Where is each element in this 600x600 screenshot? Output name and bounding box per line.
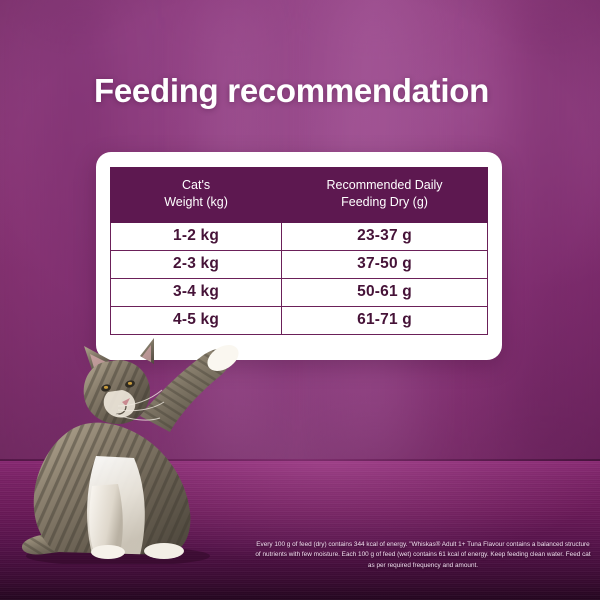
cell-feeding: 50-61 g <box>282 278 488 306</box>
cell-weight: 1-2 kg <box>111 222 282 250</box>
feeding-table-card: Cat's Weight (kg) Recommended Daily Feed… <box>96 152 502 360</box>
cell-feeding: 23-37 g <box>282 222 488 250</box>
column-header-feeding: Recommended Daily Feeding Dry (g) <box>282 168 488 223</box>
page-title: Feeding recommendation <box>94 72 554 110</box>
table-row: 4-5 kg 61-71 g <box>111 306 488 334</box>
cell-weight: 2-3 kg <box>111 250 282 278</box>
cat-rear-paw <box>144 543 184 559</box>
feeding-recommendation-banner: Feeding recommendation Cat's Weight (kg)… <box>0 0 600 600</box>
feeding-table: Cat's Weight (kg) Recommended Daily Feed… <box>110 167 488 335</box>
column-header-feeding-line1: Recommended Daily <box>327 178 443 192</box>
table-row: 1-2 kg 23-37 g <box>111 222 488 250</box>
cat-front-leg <box>89 484 125 559</box>
cell-feeding: 61-71 g <box>282 306 488 334</box>
table-header-row: Cat's Weight (kg) Recommended Daily Feed… <box>111 168 488 223</box>
column-header-feeding-line2: Feeding Dry (g) <box>341 195 428 209</box>
cell-weight: 4-5 kg <box>111 306 282 334</box>
table-row: 3-4 kg 50-61 g <box>111 278 488 306</box>
column-header-weight-line1: Cat's <box>182 178 210 192</box>
cell-weight: 3-4 kg <box>111 278 282 306</box>
fineprint-text: Every 100 g of feed (dry) contains 344 k… <box>254 540 592 571</box>
cell-feeding: 37-50 g <box>282 250 488 278</box>
cat-photo <box>22 336 292 564</box>
column-header-weight-line2: Weight (kg) <box>164 195 228 209</box>
column-header-weight: Cat's Weight (kg) <box>111 168 282 223</box>
table-row: 2-3 kg 37-50 g <box>111 250 488 278</box>
